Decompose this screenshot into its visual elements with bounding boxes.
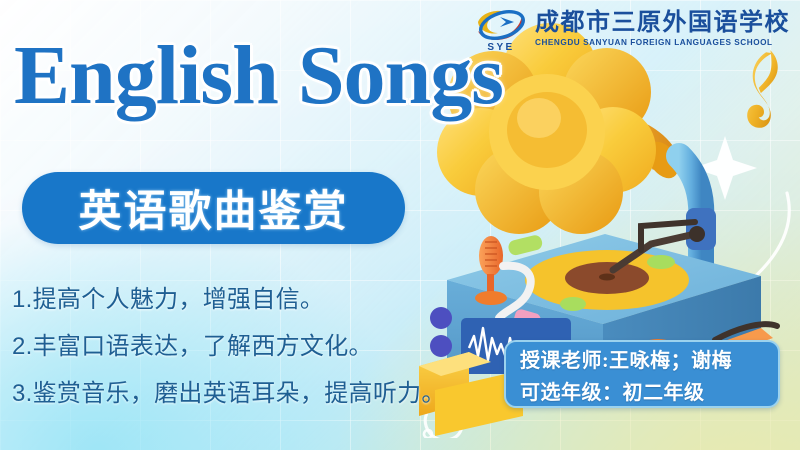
school-name-en: CHENGDU SANYUAN FOREIGN LANGUAGES SCHOOL <box>535 38 773 47</box>
teacher-names-line: 授课老师:王咏梅；谢梅 <box>520 344 732 373</box>
teacher-info-box: 授课老师:王咏梅；谢梅 可选年级：初二年级 <box>504 340 780 408</box>
list-item: 3.鉴赏音乐，磨出英语耳朵，提高听力。 <box>12 373 446 408</box>
course-subtitle-text: 英语歌曲鉴赏 <box>79 177 349 239</box>
green-knob <box>560 297 586 311</box>
list-item: 2.丰富口语表达，了解西方文化。 <box>12 326 446 361</box>
green-grip <box>507 234 544 257</box>
school-name-cn: 成都市三原外国语学校 <box>535 11 790 36</box>
course-subtitle-badge: 英语歌曲鉴赏 <box>22 172 405 244</box>
green-knob-2 <box>647 255 675 269</box>
grade-level-line: 可选年级：初二年级 <box>520 376 705 405</box>
treble-clef-icon <box>747 50 778 128</box>
sye-swoosh-logo-icon: SYE <box>474 6 528 52</box>
svg-text:SYE: SYE <box>487 42 514 52</box>
course-benefits-list: 1.提高个人魅力，增强自信。 2.丰富口语表达，了解西方文化。 3.鉴赏音乐，磨… <box>12 279 446 408</box>
list-item: 1.提高个人魅力，增强自信。 <box>12 279 446 314</box>
school-name-block: 成都市三原外国语学校 CHENGDU SANYUAN FOREIGN LANGU… <box>535 11 790 46</box>
page-title: English Songs <box>14 34 503 118</box>
school-logo-bar: SYE 成都市三原外国语学校 CHENGDU SANYUAN FOREIGN L… <box>474 6 790 52</box>
